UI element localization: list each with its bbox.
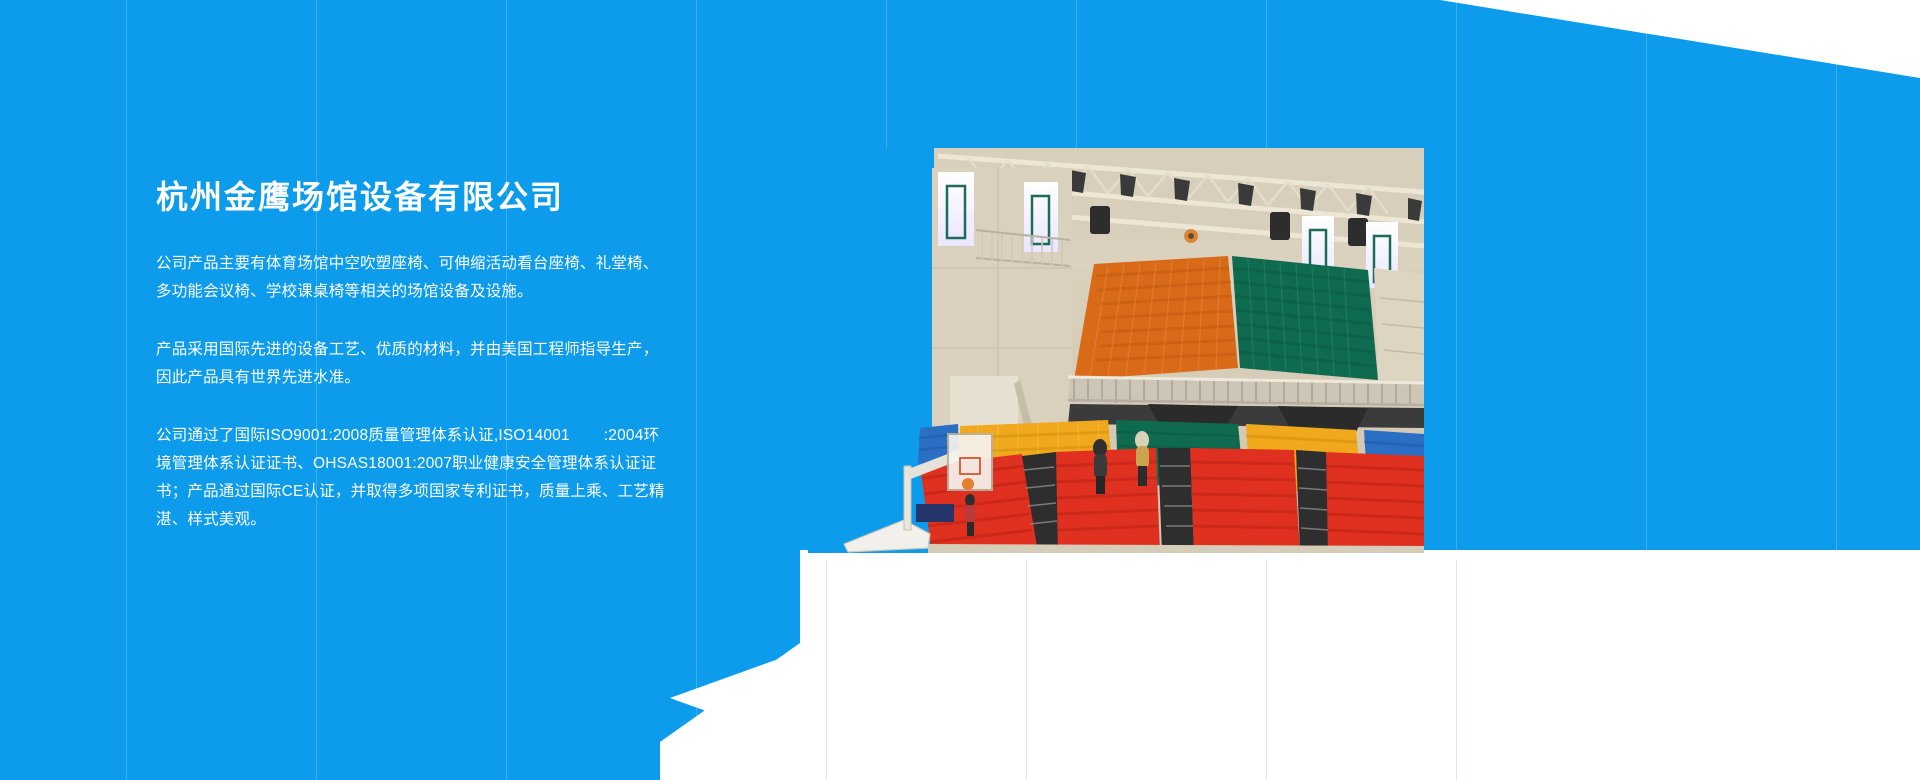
hero-text-column: 杭州金鹰场馆设备有限公司 公司产品主要有体育场馆中空吹塑座椅、可伸缩活动看台座椅… bbox=[156, 178, 666, 534]
intro-paragraph-certifications: 公司通过了国际ISO9001:2008质量管理体系认证,ISO14001:200… bbox=[156, 422, 666, 534]
photo-illustration bbox=[808, 148, 1424, 553]
bottom-white-band bbox=[660, 550, 1920, 780]
hero-banner: 杭州金鹰场馆设备有限公司 公司产品主要有体育场馆中空吹塑座椅、可伸缩活动看台座椅… bbox=[0, 0, 1920, 780]
gymnasium-seating-photo bbox=[808, 148, 1424, 553]
cert-text-part1: 公司通过了国际ISO9001:2008质量管理体系认证,ISO14001 bbox=[156, 427, 570, 444]
intro-paragraph-quality: 产品采用国际先进的设备工艺、优质的材料，并由美国工程师指导生产，因此产品具有世界… bbox=[156, 336, 666, 392]
page-title: 杭州金鹰场馆设备有限公司 bbox=[156, 178, 666, 216]
intro-paragraph-products: 公司产品主要有体育场馆中空吹塑座椅、可伸缩活动看台座椅、礼堂椅、多功能会议椅、学… bbox=[156, 250, 666, 306]
